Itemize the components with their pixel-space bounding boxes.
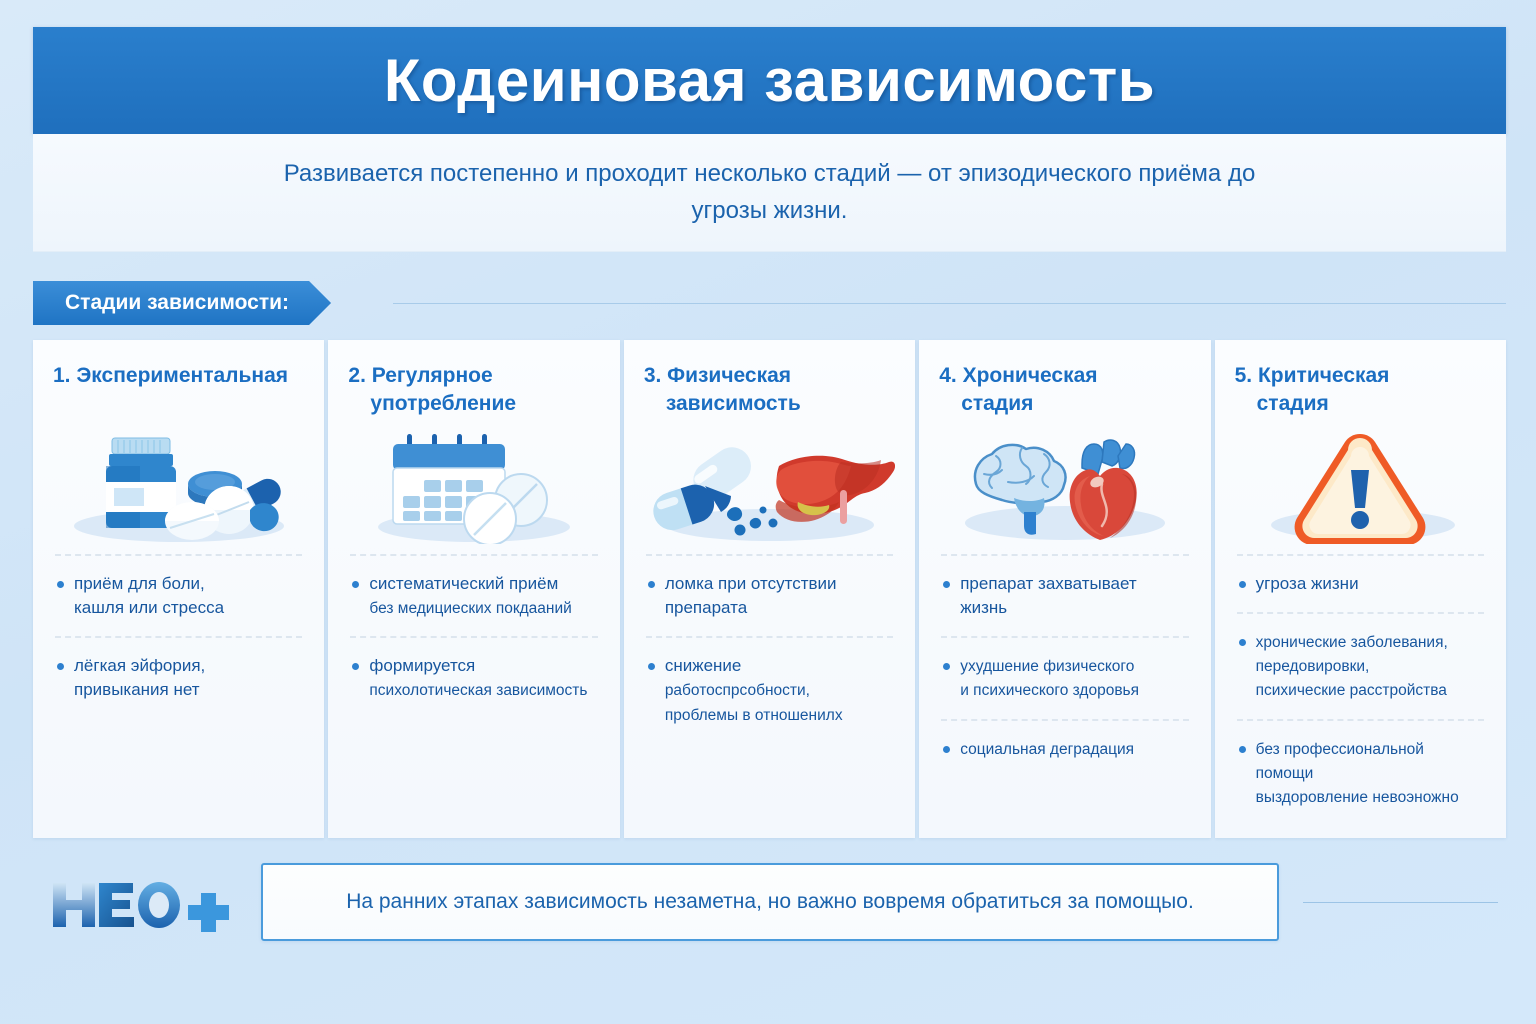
bullet-main: ломка при отсутствии: [665, 574, 837, 593]
stage-card-4-title: 4. Хроническая стадия: [939, 362, 1190, 420]
list-item: социальная деградация: [939, 721, 1190, 777]
bullet-main: снижение: [665, 656, 742, 675]
bullet-main: препарат захватывает: [960, 574, 1136, 593]
stage-card-4-title-line2: стадия: [939, 390, 1190, 418]
subtitle-panel: Развивается постепенно и проходит нескол…: [33, 134, 1506, 252]
stage-card-5-bullets: угроза жизни хронические заболевания, пе…: [1235, 554, 1486, 825]
bullet-dot-icon: [648, 581, 655, 588]
section-banner: Стадии зависимости:: [33, 281, 1506, 325]
bullet-dot-icon: [943, 663, 950, 670]
bullet-sub: без медициеских покдааний: [369, 600, 571, 617]
stage-card-4-title-line1: 4. Хроническая: [939, 364, 1097, 387]
stages-card-row: 1. Экспериментальная: [33, 340, 1506, 838]
bullet-dot-icon: [352, 581, 359, 588]
stage-card-3[interactable]: 3. Физическая зависимость: [624, 340, 915, 838]
bullet-sub: передовировки, психические расстройства: [1256, 658, 1447, 699]
bullet-sub: психолотическая зависимость: [369, 682, 587, 699]
stage-card-2-title-line1: 2. Регулярное: [348, 364, 492, 387]
bullet-main: приём для боли,: [74, 574, 205, 593]
bullet-main: формируется: [369, 656, 475, 675]
stage-card-3-bullets: ломка при отсутствии препарата снижение …: [644, 554, 895, 743]
stage-card-5-title: 5. Критическая стадия: [1235, 362, 1486, 420]
bullet-dot-icon: [1239, 639, 1246, 646]
bullet-dot-icon: [943, 581, 950, 588]
bullet-sub: препарата: [665, 598, 747, 617]
stage-card-4[interactable]: 4. Хроническая стадия: [919, 340, 1210, 838]
stage-card-2[interactable]: 2. Регулярное употребление: [328, 340, 619, 838]
calendar-and-pills-icon: [348, 426, 599, 544]
pill-bottle-and-tablets-icon: [53, 426, 304, 544]
bullet-dot-icon: [57, 581, 64, 588]
bullet-text: без профессиональной помощи выздоровлени…: [1256, 737, 1484, 809]
subtitle-text: Развивается постепенно и проходит нескол…: [250, 156, 1290, 229]
bullet-main: лёгкая эйфория,: [74, 656, 205, 675]
bullet-sub: кашля или стресса: [74, 598, 224, 617]
bullet-sub: жизнь: [960, 598, 1007, 617]
neo-plus-logo: [49, 874, 257, 936]
bullet-text: формируется психолотическая зависимость: [369, 654, 587, 702]
bullet-text: хронические заболевания, передовировки, …: [1256, 630, 1448, 702]
stage-card-2-title: 2. Регулярное употребление: [348, 362, 599, 420]
list-item: приём для боли, кашля или стресса: [53, 556, 304, 636]
bullet-sub: выздоровление невоэножно: [1256, 789, 1459, 806]
capsule-and-liver-icon: [644, 426, 895, 544]
bullet-sub: привыкания нет: [74, 680, 200, 699]
bullet-text: приём для боли, кашля или стресса: [74, 572, 224, 620]
list-item: снижение работоспрсобности, проблемы в о…: [644, 638, 895, 742]
bullet-sub: работоспрсобности, проблемы в отношенилх: [665, 682, 843, 723]
stage-card-2-title-line2: употребление: [348, 390, 599, 418]
list-item: формируется психолотическая зависимость: [348, 638, 599, 718]
section-banner-rule: [393, 303, 1506, 304]
bullet-text: систематический приём без медициеских по…: [369, 572, 571, 620]
footer-rule: [1303, 902, 1498, 903]
bullet-text: ухудшение физического и психического здо…: [960, 654, 1139, 702]
stage-card-1-bullets: приём для боли, кашля или стресса лёгкая…: [53, 554, 304, 719]
bullet-dot-icon: [57, 663, 64, 670]
stage-card-5-title-line1: 5. Критическая: [1235, 364, 1390, 387]
list-item: угроза жизни: [1235, 556, 1486, 612]
stage-card-2-bullets: систематический приём без медициеских по…: [348, 554, 599, 719]
list-item: ухудшение физического и психического здо…: [939, 638, 1190, 718]
list-item: ломка при отсутствии препарата: [644, 556, 895, 636]
stage-card-5[interactable]: 5. Критическая стадия угроза жизни: [1215, 340, 1506, 838]
stage-card-3-title-line2: зависимость: [644, 390, 895, 418]
bullet-main: без профессиональной помощи: [1256, 741, 1424, 782]
list-item: препарат захватывает жизнь: [939, 556, 1190, 636]
list-item: без профессиональной помощи выздоровлени…: [1235, 721, 1486, 825]
bullet-dot-icon: [648, 663, 655, 670]
bullet-text: угроза жизни: [1256, 572, 1359, 596]
stage-card-1-title: 1. Экспериментальная: [53, 362, 304, 420]
stage-card-1[interactable]: 1. Экспериментальная: [33, 340, 324, 838]
bullet-text: ломка при отсутствии препарата: [665, 572, 837, 620]
bullet-main: угроза жизни: [1256, 574, 1359, 593]
title-bar: Кодеиновая зависимость: [33, 27, 1506, 134]
bullet-dot-icon: [943, 746, 950, 753]
brain-and-heart-icon: [939, 426, 1190, 544]
bullet-text: социальная деградация: [960, 737, 1134, 761]
list-item: лёгкая эйфория, привыкания нет: [53, 638, 304, 718]
page-title: Кодеиновая зависимость: [384, 46, 1155, 115]
bullet-text: лёгкая эйфория, привыкания нет: [74, 654, 205, 702]
stage-card-3-title: 3. Физическая зависимость: [644, 362, 895, 420]
stage-card-4-bullets: препарат захватывает жизнь ухудшение физ…: [939, 554, 1190, 777]
footer: На ранних этапах зависимость незаметна, …: [33, 860, 1506, 946]
bullet-main: систематический приём: [369, 574, 558, 593]
stage-card-3-title-line1: 3. Физическая: [644, 364, 791, 387]
stage-card-1-title-line1: 1. Экспериментальная: [53, 364, 288, 387]
bullet-dot-icon: [1239, 746, 1246, 753]
bullet-text: снижение работоспрсобности, проблемы в о…: [665, 654, 843, 726]
section-banner-label: Стадии зависимости:: [33, 281, 331, 325]
warning-triangle-icon: [1235, 426, 1486, 544]
footer-note-text: На ранних этапах зависимость незаметна, …: [346, 890, 1194, 914]
bullet-main: ухудшение физического: [960, 658, 1134, 675]
footer-note-box: На ранних этапах зависимость незаметна, …: [261, 863, 1279, 941]
bullet-main: социальная деградация: [960, 741, 1134, 758]
bullet-dot-icon: [1239, 581, 1246, 588]
stage-card-5-title-line2: стадия: [1235, 390, 1486, 418]
bullet-sub: и психического здоровья: [960, 682, 1139, 699]
list-item: систематический приём без медициеских по…: [348, 556, 599, 636]
list-item: хронические заболевания, передовировки, …: [1235, 614, 1486, 718]
bullet-dot-icon: [352, 663, 359, 670]
bullet-text: препарат захватывает жизнь: [960, 572, 1136, 620]
bullet-main: хронические заболевания,: [1256, 634, 1448, 651]
